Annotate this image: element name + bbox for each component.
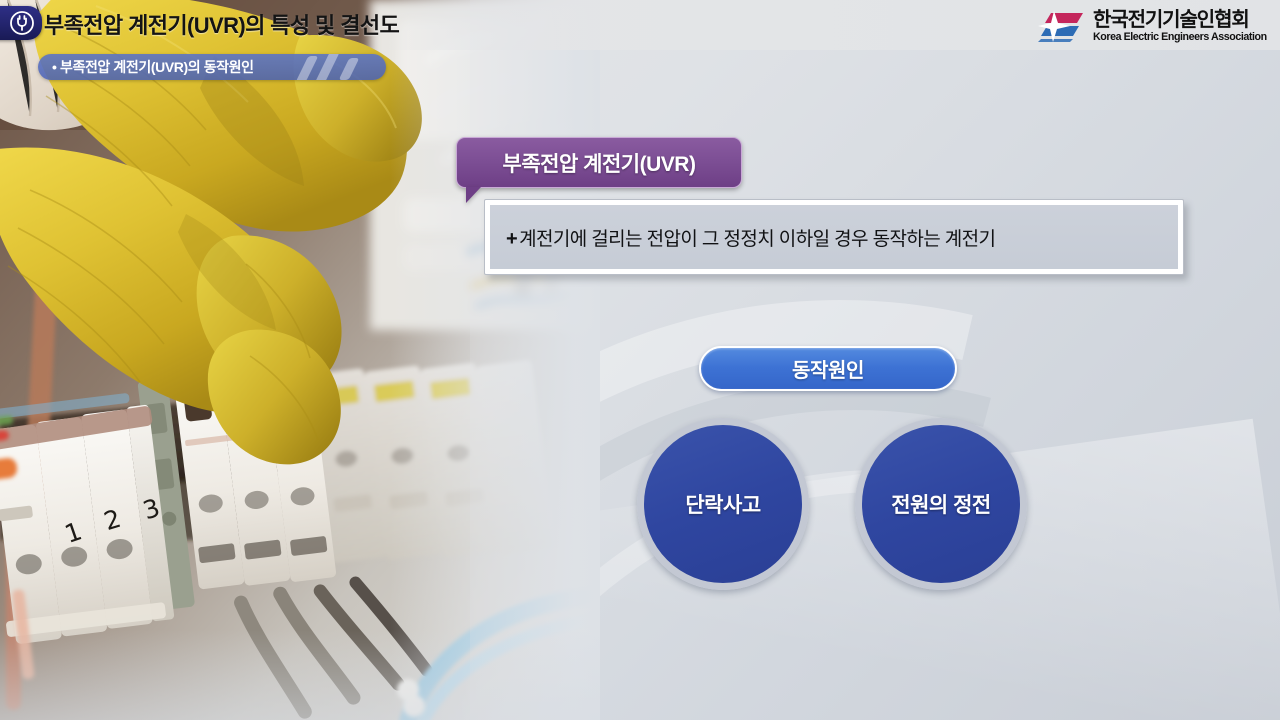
definition-box: +계전기에 걸리는 전압이 그 정정치 이하일 경우 동작하는 계전기 (484, 199, 1184, 275)
definition-text-row: +계전기에 걸리는 전압이 그 정정치 이하일 경우 동작하는 계전기 (506, 224, 995, 251)
presentation-slide: 1 2 3 (0, 0, 1280, 720)
definition-bullet: + (506, 228, 517, 250)
uvr-heading-label: 부족전압 계전기(UVR) (503, 148, 696, 178)
cause-pill-label: 동작원인 (792, 354, 864, 383)
logo-korean-name: 한국전기기술인협회 (1093, 10, 1249, 31)
cause-pill: 동작원인 (699, 346, 957, 391)
cause-circle-short-circuit: 단락사고 (637, 418, 809, 590)
subtitle-label: • 부족전압 계전기(UVR)의 동작원인 (52, 57, 254, 77)
uvr-heading-group: 부족전압 계전기(UVR) (456, 137, 742, 188)
keea-spark-logo-icon (1037, 11, 1085, 43)
subtitle-pill: • 부족전압 계전기(UVR)의 동작원인 (38, 54, 386, 80)
logo-english-name: Korea Electric Engineers Association (1093, 31, 1267, 44)
definition-text: 계전기에 걸리는 전압이 그 정정치 이하일 경우 동작하는 계전기 (519, 229, 995, 250)
cause-circle-label: 단락사고 (685, 489, 760, 519)
pill-stripe-decoration (296, 54, 372, 80)
uvr-heading-box: 부족전압 계전기(UVR) (456, 137, 742, 188)
heading-callout-tail (466, 187, 481, 203)
plug-circle-icon (0, 6, 42, 40)
page-title: 부족전압 계전기(UVR)의 특성 및 결선도 (44, 8, 399, 40)
cause-circle-power-outage: 전원의 정전 (855, 418, 1027, 590)
association-logo: 한국전기기술인협회 Korea Electric Engineers Assoc… (1037, 10, 1272, 44)
cause-circle-label: 전원의 정전 (891, 489, 990, 519)
electrical-panel-photo: 1 2 3 (0, 0, 600, 720)
